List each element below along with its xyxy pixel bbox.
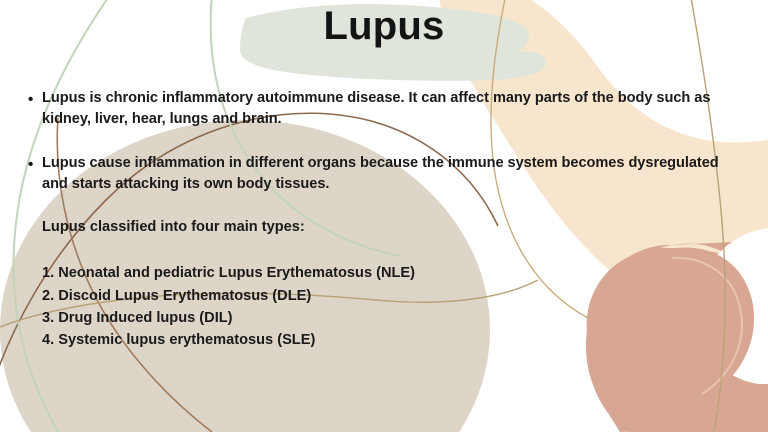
list-item: 4. Systemic lupus erythematosus (SLE)	[42, 329, 746, 351]
types-list: 1. Neonatal and pediatric Lupus Erythema…	[42, 262, 746, 351]
bullet-item-text: Lupus is chronic inflammatory autoimmune…	[42, 88, 746, 131]
page-title: Lupus	[0, 4, 768, 49]
bullet-marker-icon: •	[28, 153, 42, 175]
bullet-marker-icon: •	[28, 88, 42, 110]
bullet-item: • Lupus cause inflammation in different …	[28, 153, 746, 196]
body-text-block: • Lupus is chronic inflammatory autoimmu…	[28, 88, 746, 351]
list-item: 1. Neonatal and pediatric Lupus Erythema…	[42, 262, 746, 284]
list-item: 3. Drug Induced lupus (DIL)	[42, 307, 746, 329]
bullet-item-text: Lupus cause inflammation in different or…	[42, 153, 746, 196]
list-item: 2. Discoid Lupus Erythematosus (DLE)	[42, 285, 746, 307]
types-heading: Lupus classified into four main types:	[42, 217, 746, 238]
bullet-item: • Lupus is chronic inflammatory autoimmu…	[28, 88, 746, 131]
slide: Lupus • Lupus is chronic inflammatory au…	[0, 0, 768, 432]
slide-content: Lupus • Lupus is chronic inflammatory au…	[0, 0, 768, 432]
